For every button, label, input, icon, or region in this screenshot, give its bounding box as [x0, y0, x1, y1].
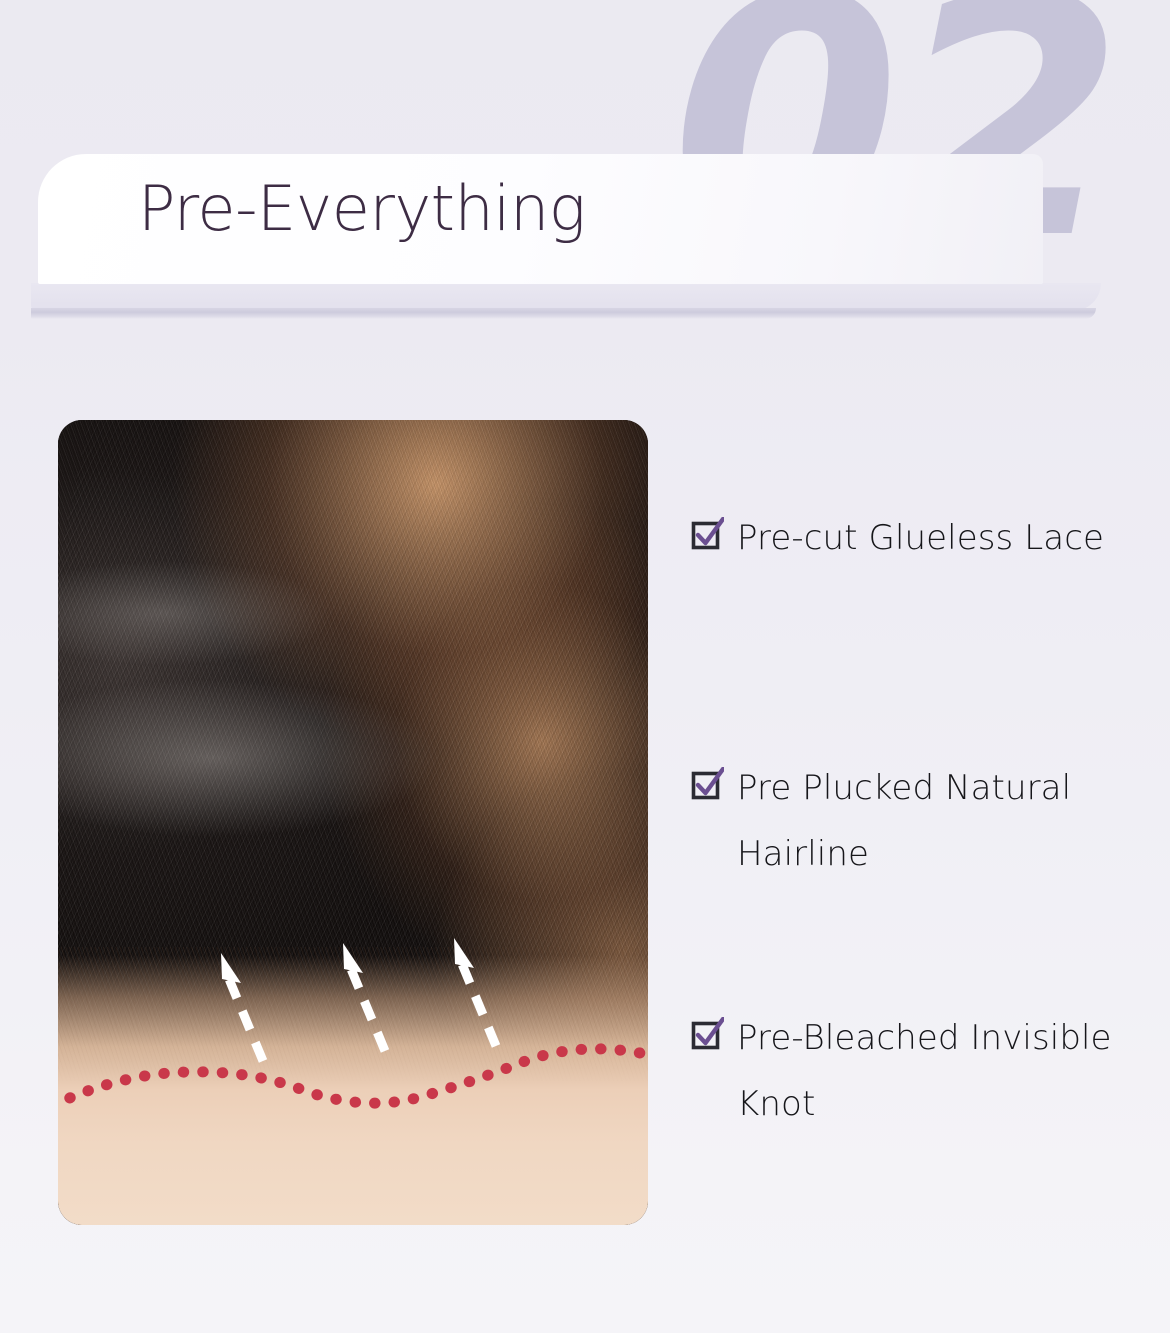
list-item: Pre-cut Glueless Lace	[690, 505, 1160, 755]
checkbox-checked-icon[interactable]	[690, 517, 721, 548]
red-dotted-hairline-icon	[58, 1049, 648, 1106]
dashed-arrow-up-left-icon-1	[221, 953, 263, 1061]
checkbox-checked-icon[interactable]	[690, 767, 721, 798]
list-item-label: Pre-Bleached Invisible Knot	[737, 1005, 1157, 1137]
page-title: Pre-Everything	[138, 178, 585, 240]
list-item: Pre-Bleached Invisible Knot	[690, 1005, 1160, 1255]
checkbox-checked-icon[interactable]	[690, 1017, 721, 1048]
header-section: 02 Pre-Everything	[0, 0, 1170, 340]
list-item: Pre Plucked Natural Hairline	[690, 755, 1160, 1005]
lace-wig-hairline-closeup-photo	[58, 420, 648, 1225]
list-item-label: Pre-cut Glueless Lace	[737, 505, 1104, 571]
photo-annotation-overlay	[58, 420, 648, 1225]
dashed-arrow-up-left-icon-2	[343, 943, 385, 1051]
dashed-arrow-up-left-icon-3	[454, 938, 496, 1046]
header-underbar-shade	[31, 283, 1101, 311]
list-item-label: Pre Plucked Natural Hairline	[737, 755, 1157, 887]
header-underbar	[31, 308, 1096, 319]
feature-list: Pre-cut Glueless Lace Pre Plucked Natura…	[690, 505, 1160, 1255]
